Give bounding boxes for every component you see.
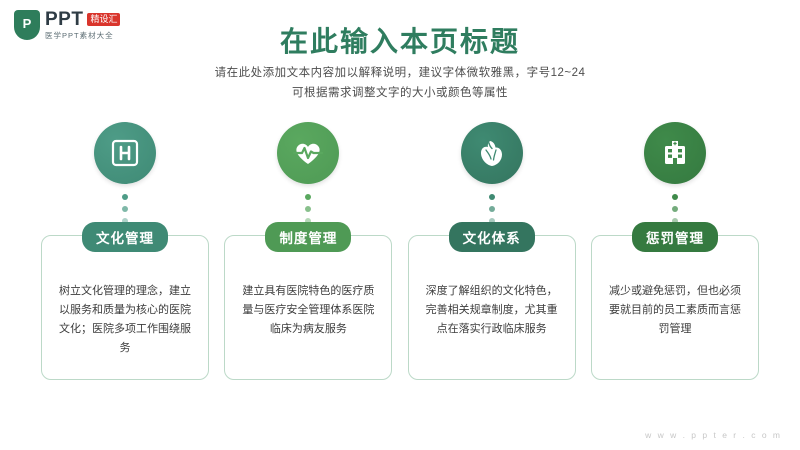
card-4: 惩罚管理 减少或避免惩罚，但也必须要就目前的员工素质而言惩罚管理 [591,235,759,380]
columns-container: 文化管理 树立文化管理的理念，建立以服务和质量为核心的医院文化；医院多项工作围绕… [40,122,760,392]
card-1: 文化管理 树立文化管理的理念，建立以服务和质量为核心的医院文化；医院多项工作围绕… [41,235,209,380]
column-3: 文化体系 深度了解组织的文化特色，完善相关规章制度，尤其重点在落实行政临床服务 [407,122,577,392]
watermark: w w w . p p t e r . c o m [645,430,782,440]
dot [122,206,128,212]
card-3: 文化体系 深度了解组织的文化特色，完善相关规章制度，尤其重点在落实行政临床服务 [408,235,576,380]
dot [489,194,495,200]
page-subtitle-line-2: 可根据需求调整文字的大小或颜色等属性 [0,83,800,103]
page-subtitle: 请在此处添加文本内容加以解释说明，建议字体微软雅黑，字号12~24 可根据需求调… [0,63,800,103]
column-1: 文化管理 树立文化管理的理念，建立以服务和质量为核心的医院文化；医院多项工作围绕… [40,122,210,392]
card-label-2: 制度管理 [265,222,351,252]
dot [305,206,311,212]
hospital-building-icon [660,138,690,168]
icon-circle-3[interactable] [461,122,523,184]
page-subtitle-line-1: 请在此处添加文本内容加以解释说明，建议字体微软雅黑，字号12~24 [0,63,800,83]
card-body-3: 深度了解组织的文化特色，完善相关规章制度，尤其重点在落实行政临床服务 [421,282,563,339]
dot [122,194,128,200]
dot [305,194,311,200]
page-title: 在此输入本页标题 [0,20,800,60]
dot [489,206,495,212]
column-2: 制度管理 建立具有医院特色的医疗质量与医疗安全管理体系医院临床为病友服务 [223,122,393,392]
icon-circle-4[interactable] [644,122,706,184]
dot [672,194,678,200]
hospital-h-icon [110,138,140,168]
card-body-4: 减少或避免惩罚，但也必须要就目前的员工素质而言惩罚管理 [604,282,746,339]
card-label-3: 文化体系 [449,222,535,252]
card-label-1: 文化管理 [82,222,168,252]
column-4: 惩罚管理 减少或避免惩罚，但也必须要就目前的员工素质而言惩罚管理 [590,122,760,392]
icon-circle-1[interactable] [94,122,156,184]
card-body-2: 建立具有医院特色的医疗质量与医疗安全管理体系医院临床为病友服务 [237,282,379,339]
heartbeat-icon [292,138,324,168]
card-label-4: 惩罚管理 [632,222,718,252]
card-2: 制度管理 建立具有医院特色的医疗质量与医疗安全管理体系医院临床为病友服务 [224,235,392,380]
dot [672,206,678,212]
icon-circle-2[interactable] [277,122,339,184]
anatomical-heart-icon [477,137,507,169]
card-body-1: 树立文化管理的理念，建立以服务和质量为核心的医院文化；医院多项工作围绕服务 [54,282,196,358]
